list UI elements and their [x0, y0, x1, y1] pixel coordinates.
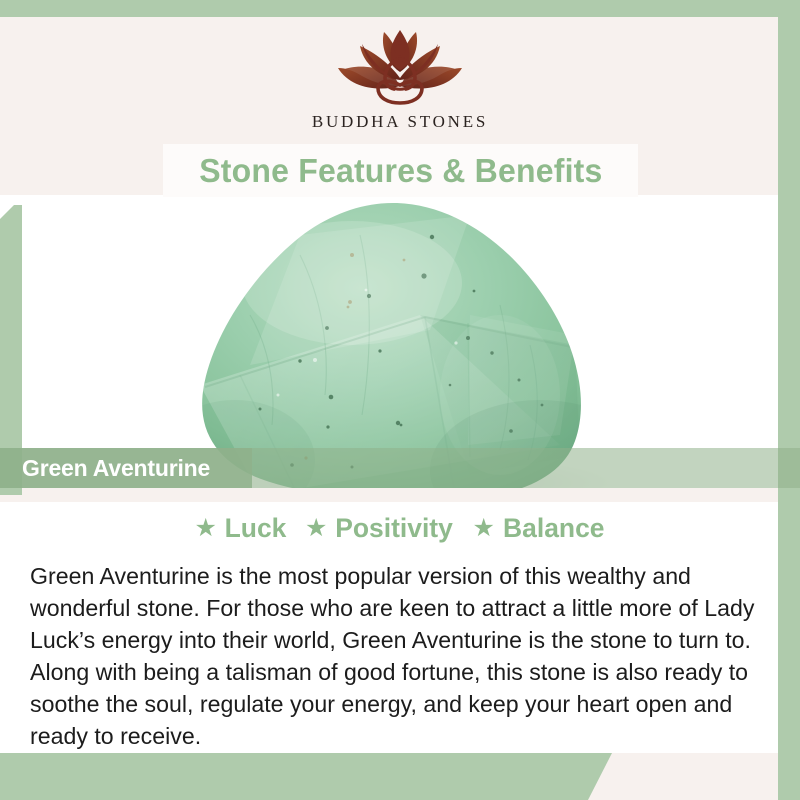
benefit-item-positivity: ★ Positivity: [305, 513, 454, 544]
benefits-row: ★ Luck ★ Positivity ★ Balance: [30, 502, 770, 554]
frame-top-band: [0, 0, 800, 17]
star-icon: ★: [472, 516, 494, 541]
stone-description: Green Aventurine is the most popular ver…: [30, 560, 759, 752]
page-title: Stone Features & Benefits: [199, 152, 602, 190]
benefit-label-luck: Luck: [225, 513, 287, 544]
content-gap: [0, 488, 800, 502]
frame-bottom-band: [0, 753, 612, 800]
stone-name-label: Green Aventurine: [22, 455, 210, 482]
stone-name-bar-translucent: [252, 448, 800, 488]
star-icon: ★: [305, 516, 327, 541]
frame-right-band: [778, 0, 800, 800]
stone-name-bar: Green Aventurine: [0, 448, 800, 488]
benefit-item-balance: ★ Balance: [472, 513, 605, 544]
stone-info-card: ★ Luck ★ Positivity ★ Balance Green Aven…: [0, 502, 800, 753]
benefit-item-luck: ★ Luck: [195, 513, 287, 544]
benefit-label-balance: Balance: [503, 513, 604, 544]
lotus-meditation-icon: [316, 24, 484, 106]
brand-logo: BUDDHA STONES: [0, 24, 800, 132]
title-banner: Stone Features & Benefits: [163, 144, 638, 197]
star-icon: ★: [195, 516, 217, 541]
benefit-label-positivity: Positivity: [336, 513, 454, 544]
brand-name: BUDDHA STONES: [312, 112, 488, 132]
